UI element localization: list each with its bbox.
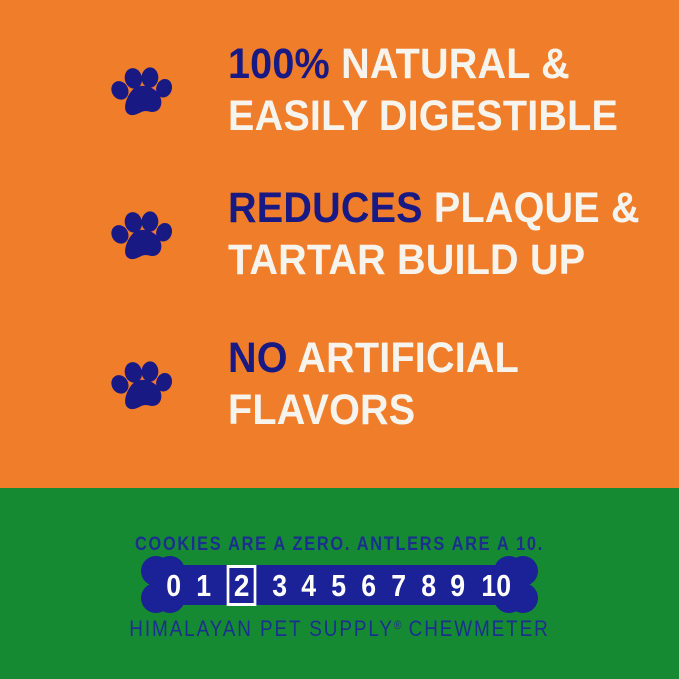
chewmeter-graphic: COOKIES ARE A ZERO. ANTLERS ARE A 10. 0 … bbox=[0, 488, 679, 679]
chewmeter-footer: HIMALAYAN PET SUPPLY® CHEWMETER bbox=[48, 616, 632, 642]
benefit-line-1-rest: NATURAL & bbox=[330, 40, 570, 88]
chewmeter-word: CHEWMETER bbox=[402, 616, 550, 641]
benefit-text: REDUCES PLAQUE & TARTAR BUILD UP bbox=[228, 182, 643, 286]
benefit-highlight: 100% bbox=[228, 40, 330, 88]
scale-value-4[interactable]: 4 bbox=[301, 570, 318, 601]
chew-scale-numbers: 0 1 2 3 4 5 6 7 8 9 10 bbox=[159, 565, 520, 605]
benefit-item-natural: 100% NATURAL & EASILY DIGESTIBLE bbox=[0, 38, 679, 142]
paw-icon-slot bbox=[0, 182, 228, 266]
benefit-line-2: EASILY DIGESTIBLE bbox=[228, 90, 643, 142]
benefit-highlight: NO bbox=[228, 334, 288, 382]
paw-icon-slot bbox=[0, 38, 228, 122]
benefit-item-flavors: NO ARTIFICIAL FLAVORS bbox=[0, 332, 679, 436]
registered-trademark-icon: ® bbox=[394, 618, 402, 632]
benefit-line-1: NO ARTIFICIAL bbox=[228, 332, 643, 384]
benefits-section: 100% NATURAL & EASILY DIGESTIBLE bbox=[0, 0, 679, 488]
scale-value-5[interactable]: 5 bbox=[331, 570, 348, 601]
scale-value-2-selected[interactable]: 2 bbox=[227, 565, 257, 606]
chewmeter-caption: COOKIES ARE A ZERO. ANTLERS ARE A 10. bbox=[48, 534, 632, 556]
benefit-line-2: TARTAR BUILD UP bbox=[228, 234, 643, 286]
scale-value-0[interactable]: 0 bbox=[166, 570, 183, 601]
benefit-highlight: REDUCES bbox=[228, 184, 423, 232]
benefit-line-1-rest: PLAQUE & bbox=[423, 184, 640, 232]
scale-value-6[interactable]: 6 bbox=[360, 570, 377, 601]
scale-value-1[interactable]: 1 bbox=[195, 570, 212, 601]
paw-icon-slot bbox=[0, 332, 228, 416]
brand-name: HIMALAYAN PET SUPPLY bbox=[129, 616, 394, 641]
benefit-text: 100% NATURAL & EASILY DIGESTIBLE bbox=[228, 38, 643, 142]
scale-value-10[interactable]: 10 bbox=[481, 570, 512, 601]
paw-print-icon bbox=[110, 64, 172, 122]
paw-print-icon bbox=[110, 208, 172, 266]
scale-value-9[interactable]: 9 bbox=[450, 570, 467, 601]
benefit-line-1: 100% NATURAL & bbox=[228, 38, 643, 90]
benefit-line-1-rest: ARTIFICIAL bbox=[288, 334, 519, 382]
benefit-line-1: REDUCES PLAQUE & bbox=[228, 182, 643, 234]
scale-value-3[interactable]: 3 bbox=[271, 570, 288, 601]
scale-value-8[interactable]: 8 bbox=[420, 570, 437, 601]
benefit-line-2: FLAVORS bbox=[228, 384, 643, 436]
bone-scale: 0 1 2 3 4 5 6 7 8 9 10 bbox=[133, 557, 546, 613]
benefit-text: NO ARTIFICIAL FLAVORS bbox=[228, 332, 643, 436]
scale-value-7[interactable]: 7 bbox=[390, 570, 407, 601]
chewmeter-section: COOKIES ARE A ZERO. ANTLERS ARE A 10. 0 … bbox=[0, 488, 679, 679]
benefit-item-plaque: REDUCES PLAQUE & TARTAR BUILD UP bbox=[0, 182, 679, 286]
product-feature-panel: 100% NATURAL & EASILY DIGESTIBLE bbox=[0, 0, 679, 679]
paw-print-icon bbox=[110, 358, 172, 416]
